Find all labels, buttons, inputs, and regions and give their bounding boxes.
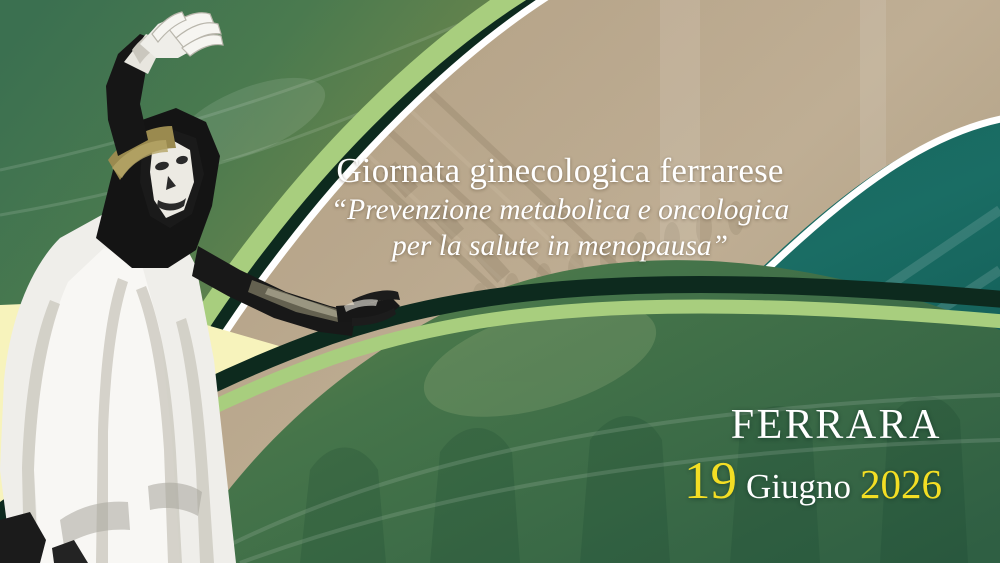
event-poster: Giornata ginecologica ferrarese “Prevenz… bbox=[0, 0, 1000, 563]
poster-title-block: Giornata ginecologica ferrarese “Prevenz… bbox=[250, 152, 870, 265]
event-date-day: 19 bbox=[684, 455, 737, 508]
event-location-date: FERRARA 19 Giugno 2026 bbox=[684, 404, 942, 508]
poster-subtitle: “Prevenzione metabolica e oncologica per… bbox=[250, 193, 870, 265]
event-date: 19 Giugno 2026 bbox=[684, 455, 942, 508]
event-date-year: 2026 bbox=[860, 464, 942, 505]
subtitle-line-1: “Prevenzione metabolica e oncologica bbox=[331, 194, 790, 226]
event-city: FERRARA bbox=[684, 404, 942, 446]
page-title: Giornata ginecologica ferrarese bbox=[250, 152, 870, 190]
event-date-month: Giugno bbox=[746, 469, 851, 504]
subtitle-line-2: per la salute in menopausa” bbox=[250, 229, 870, 265]
